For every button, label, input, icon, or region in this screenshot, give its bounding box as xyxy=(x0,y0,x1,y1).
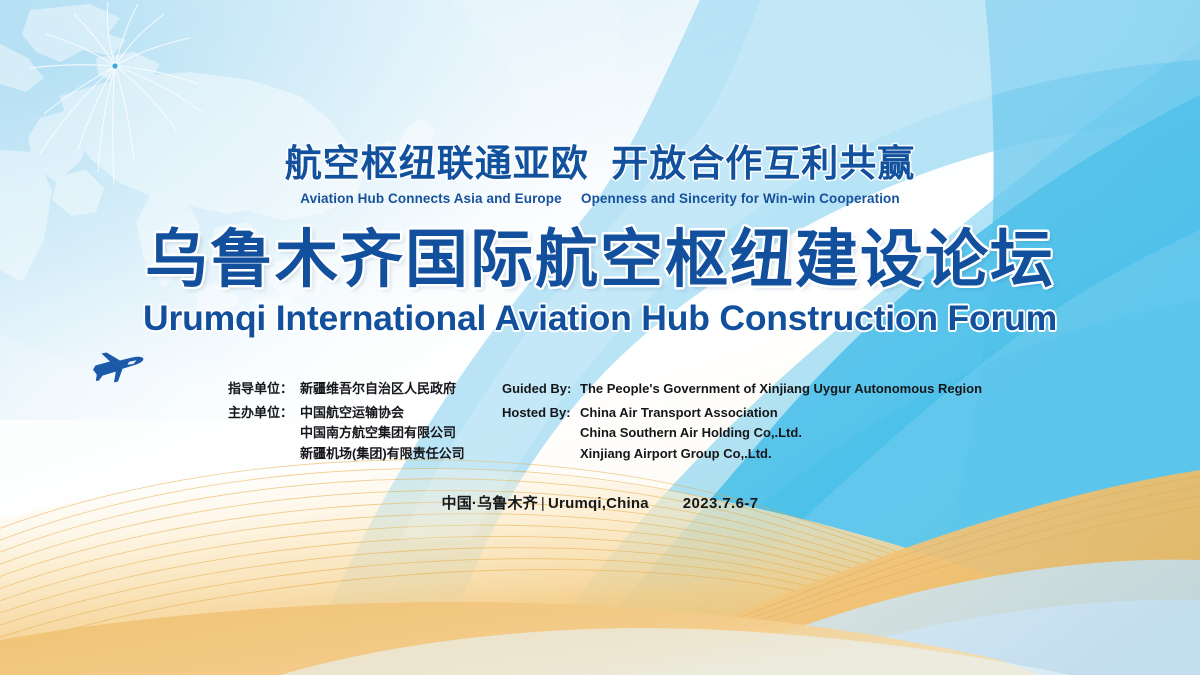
footer-location-english: Urumqi,China xyxy=(548,495,649,512)
credits-chinese: 指导单位： 新疆维吾尔自治区人民政府 主办单位： 中国航空运输协会 中国南方航空… xyxy=(228,379,465,464)
poster-content: 航空枢纽联通亚欧 开放合作互利共赢 Aviation Hub Connects … xyxy=(0,0,1200,675)
tagline-block: 航空枢纽联通亚欧 开放合作互利共赢 Aviation Hub Connects … xyxy=(0,143,1200,206)
credit-label-hosted-en: Hosted By: xyxy=(502,403,580,424)
footer-separator: | xyxy=(538,495,548,512)
credit-values-hosted-cn: 中国航空运输协会 中国南方航空集团有限公司 新疆机场(集团)有限责任公司 xyxy=(300,403,465,465)
footer-date: 2023.7.6-7 xyxy=(683,495,759,512)
page-title-chinese: 乌鲁木齐国际航空枢纽建设论坛 xyxy=(0,226,1200,294)
footer-location-date: 中国·乌鲁木齐|Urumqi,China2023.7.6-7 xyxy=(0,492,1200,513)
credit-label-hosted-cn: 主办单位： xyxy=(228,403,300,424)
footer-location-chinese: 中国·乌鲁木齐 xyxy=(442,495,538,512)
tagline-chinese: 航空枢纽联通亚欧 开放合作互利共赢 xyxy=(0,143,1200,184)
credit-row-hosted-en: Hosted By: China Air Transport Associati… xyxy=(502,403,982,465)
credit-values-hosted-en: China Air Transport Association China So… xyxy=(580,403,802,465)
credits-english: Guided By: The People's Government of Xi… xyxy=(502,379,982,464)
credit-row-hosted-cn: 主办单位： 中国航空运输协会 中国南方航空集团有限公司 新疆机场(集团)有限责任… xyxy=(228,403,465,465)
credit-values-guided-en: The People's Government of Xinjiang Uygu… xyxy=(580,379,982,400)
credit-label-guided-cn: 指导单位： xyxy=(228,379,300,400)
credit-row-guided-cn: 指导单位： 新疆维吾尔自治区人民政府 xyxy=(228,379,465,400)
page-title-english: Urumqi International Aviation Hub Constr… xyxy=(0,298,1200,339)
credit-label-guided-en: Guided By: xyxy=(502,379,580,400)
credits-section: 指导单位： 新疆维吾尔自治区人民政府 主办单位： 中国航空运输协会 中国南方航空… xyxy=(0,379,1200,474)
main-title-block: 乌鲁木齐国际航空枢纽建设论坛 Urumqi International Avia… xyxy=(0,226,1200,339)
credit-values-guided-cn: 新疆维吾尔自治区人民政府 xyxy=(300,379,456,400)
poster-canvas: 航空枢纽联通亚欧 开放合作互利共赢 Aviation Hub Connects … xyxy=(0,0,1200,675)
tagline-english: Aviation Hub Connects Asia and Europe Op… xyxy=(0,191,1200,206)
credit-row-guided-en: Guided By: The People's Government of Xi… xyxy=(502,379,982,400)
